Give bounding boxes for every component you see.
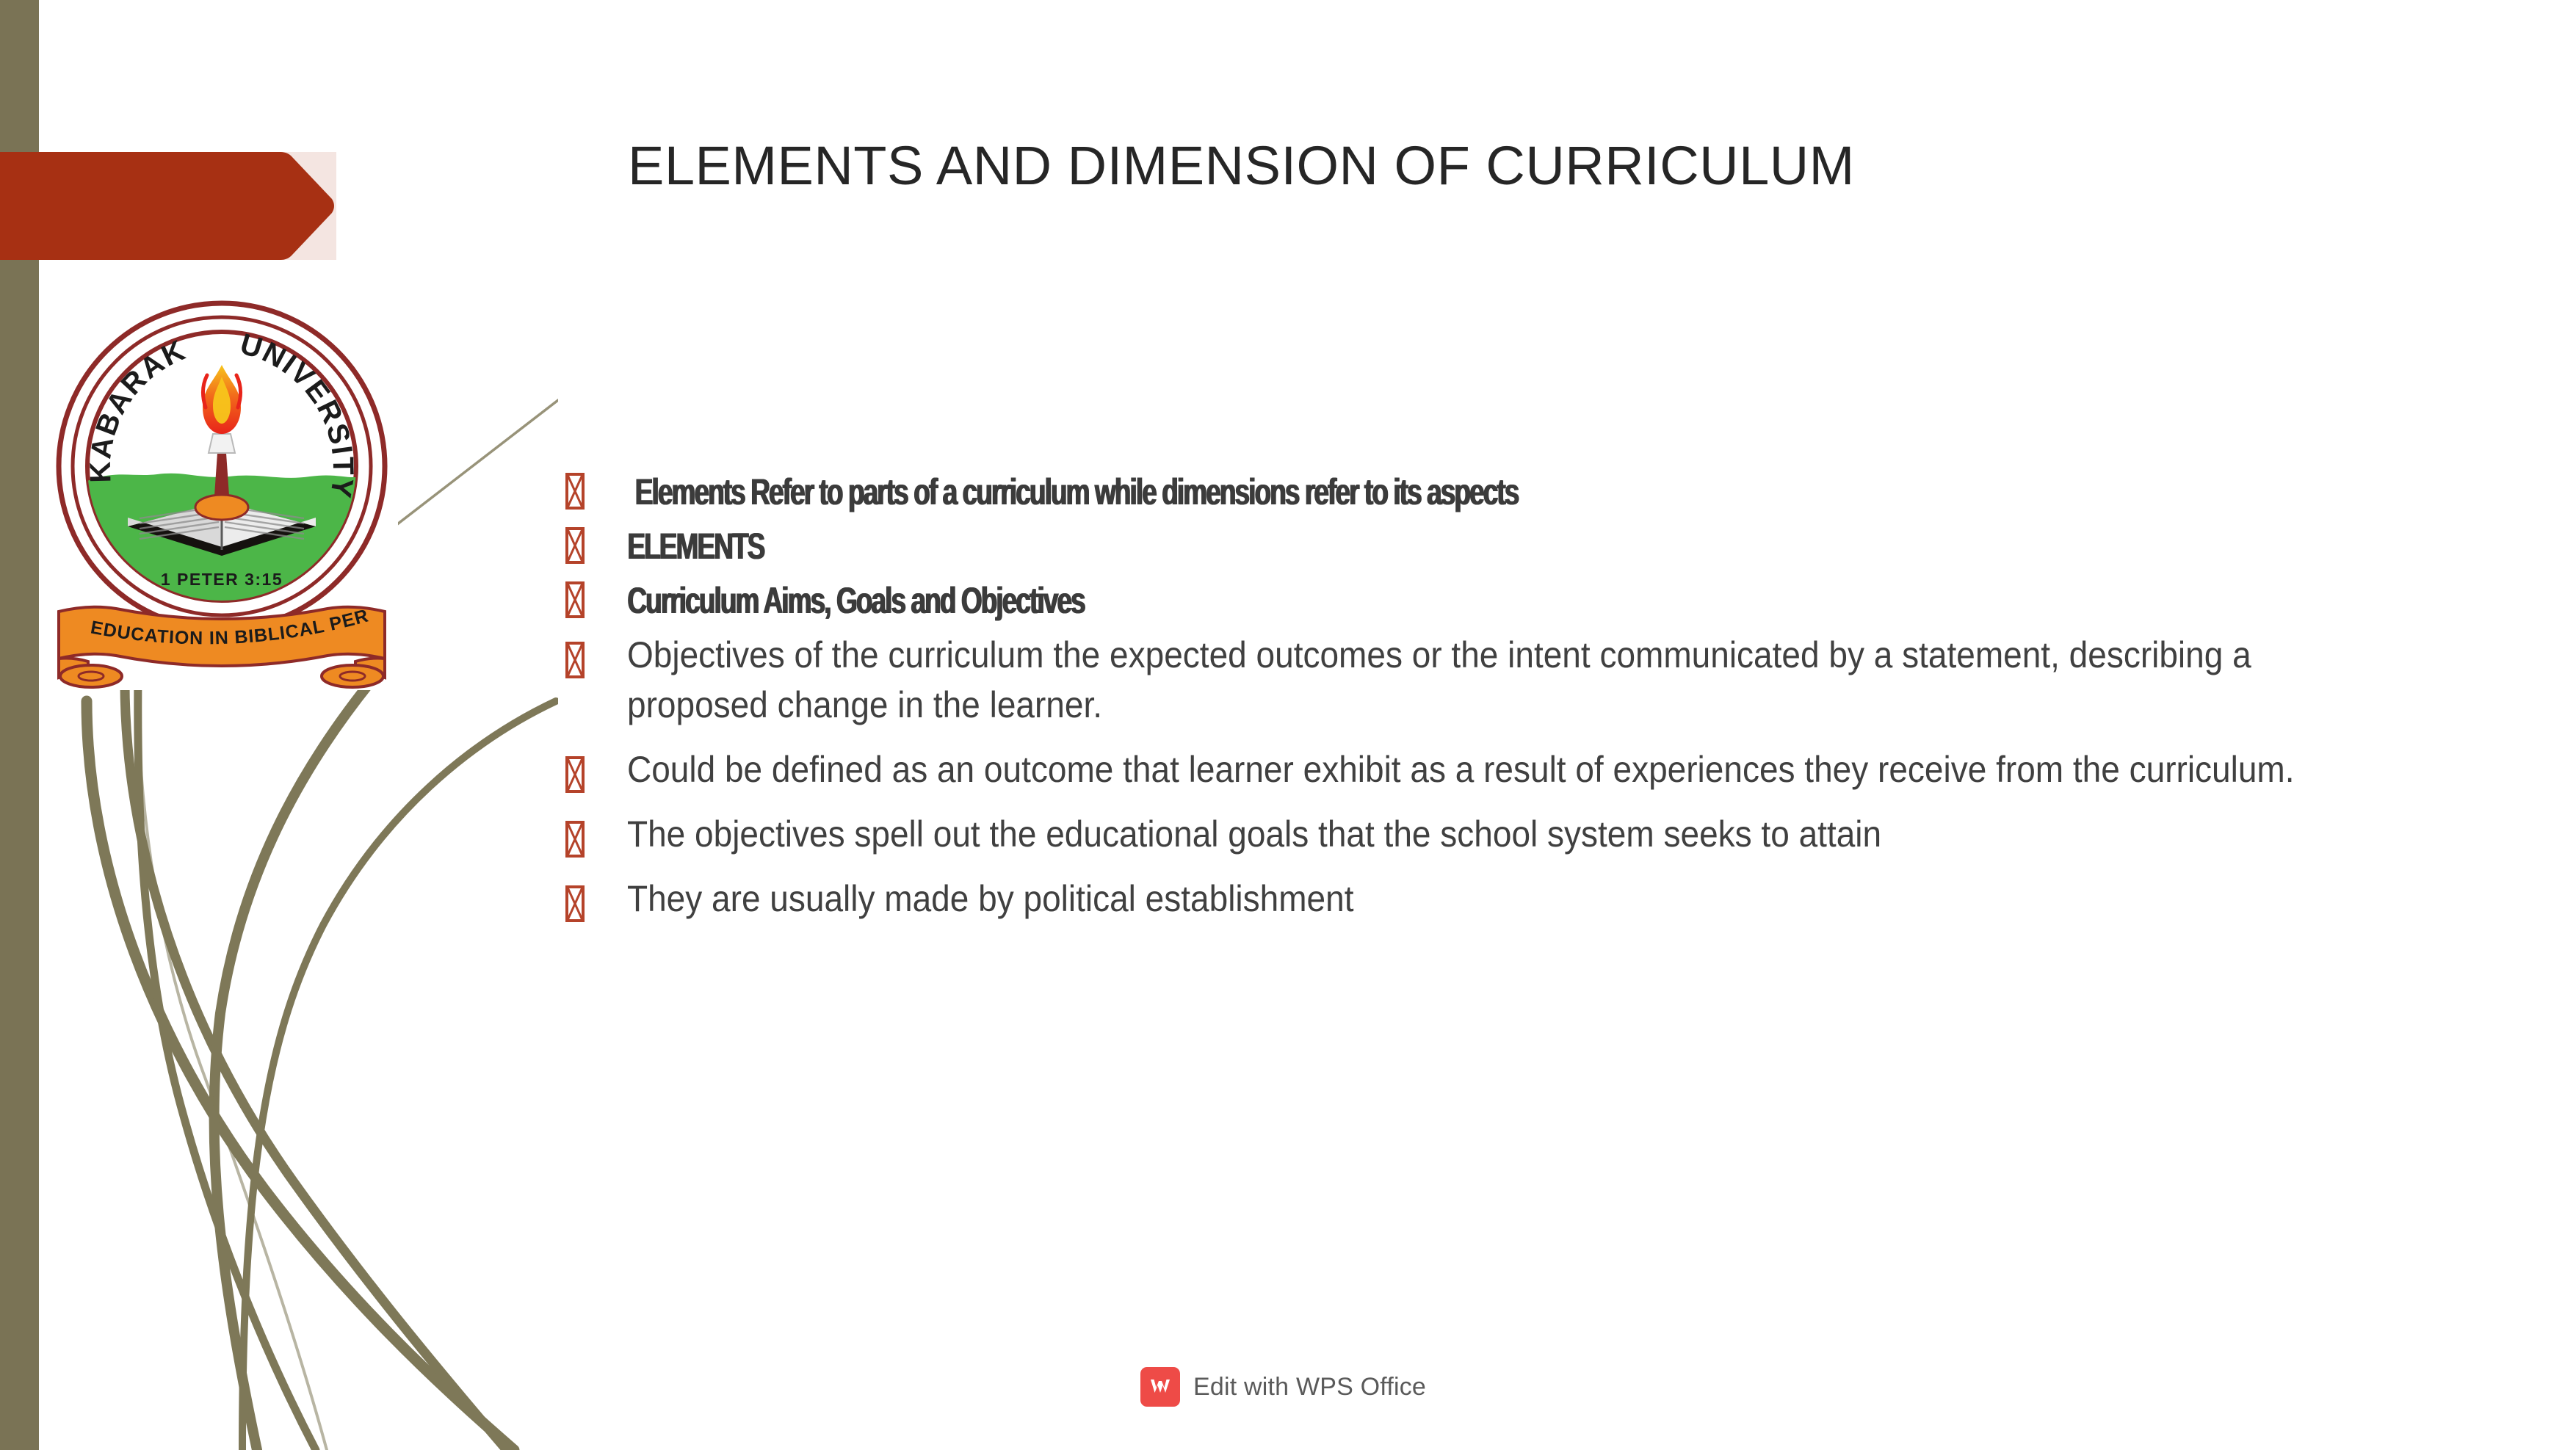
tofu-bullet-icon [565, 581, 585, 618]
wps-office-watermark[interactable]: Edit with WPS Office [1140, 1367, 1426, 1407]
content-bullet-list: Elements Refer to parts of a curriculum … [565, 467, 2445, 938]
list-item-label: Could be defined as an outcome that lear… [627, 744, 2300, 794]
wps-watermark-label: Edit with WPS Office [1193, 1373, 1426, 1402]
list-item-label: Curriculum Aims, Goals and Objectives [627, 576, 1972, 626]
slide-canvas: KABARAK UNIVERSITY [0, 0, 2576, 1450]
list-item: Objectives of the curriculum the expecte… [565, 630, 2445, 730]
logo-verse-text: 1 PETER 3:15 [161, 570, 283, 589]
tofu-bullet-icon [565, 821, 585, 858]
tofu-bullet-icon [565, 473, 585, 510]
list-item: Curriculum Aims, Goals and Objectives [565, 576, 2445, 626]
list-item-label: Objectives of the curriculum the expecte… [627, 630, 2300, 730]
red-arrow-banner [0, 152, 336, 260]
list-item-label: ELEMENTS [627, 521, 1972, 571]
tofu-bullet-icon [565, 642, 585, 678]
list-item-label: Elements Refer to parts of a curriculum … [627, 467, 1972, 517]
list-item: Could be defined as an outcome that lear… [565, 744, 2445, 794]
wps-logo-icon [1140, 1367, 1180, 1407]
tofu-bullet-icon [565, 527, 585, 564]
page-title: ELEMENTS AND DIMENSION OF CURRICULUM [628, 137, 2405, 195]
tofu-bullet-icon [565, 885, 585, 922]
list-item-label: They are usually made by political estab… [627, 874, 2300, 924]
list-item: The objectives spell out the educational… [565, 809, 2445, 859]
list-item: Elements Refer to parts of a curriculum … [565, 467, 2445, 517]
list-item-label: The objectives spell out the educational… [627, 809, 2300, 859]
tofu-bullet-icon [565, 756, 585, 793]
list-item: They are usually made by political estab… [565, 874, 2445, 924]
list-item: ELEMENTS [565, 521, 2445, 571]
kabarak-university-logo: KABARAK UNIVERSITY [46, 297, 398, 690]
